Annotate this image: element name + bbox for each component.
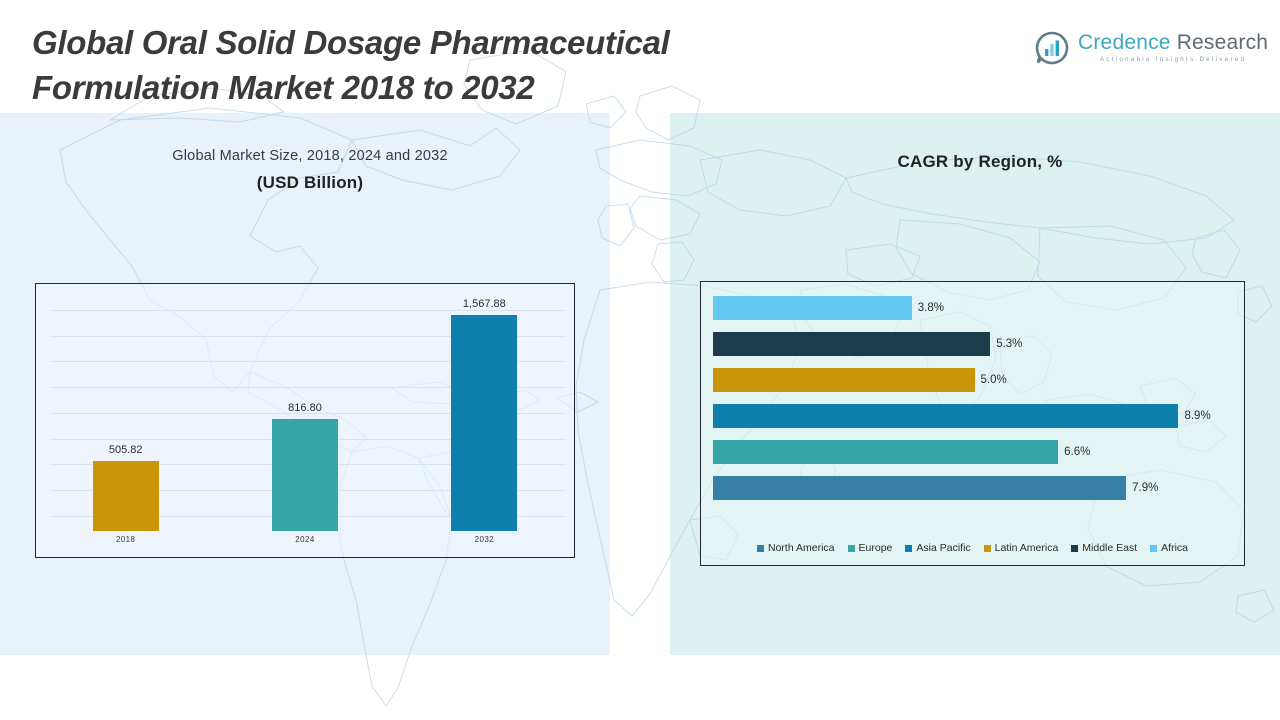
logo-name-part-2: Research (1171, 31, 1269, 54)
page-title-line-2: Formulation Market 2018 to 2032 (32, 65, 932, 110)
region-bar-row: 8.9% (713, 404, 1236, 428)
legend-label: Middle East (1082, 542, 1137, 554)
column-value-label: 816.80 (288, 402, 322, 414)
region-bar-row: 5.0% (713, 368, 1236, 392)
horizontal-bar-plot-area: 3.8%5.3%5.0%8.9%6.6%7.9% (713, 296, 1236, 511)
region-value-label: 7.9% (1132, 482, 1158, 494)
logo-name-part-1: Credence (1078, 31, 1171, 54)
chart-legend: North AmericaEuropeAsia PacificLatin Ame… (701, 542, 1244, 554)
logo-tagline: Actionable Insights Delivered (1078, 57, 1268, 63)
region-value-label: 3.8% (918, 302, 944, 314)
column-value-label: 505.82 (109, 444, 143, 456)
column-bar-group: 1,567.88 (451, 290, 517, 531)
column-bar (272, 419, 338, 531)
legend-label: Latin America (995, 542, 1059, 554)
legend-swatch (984, 545, 991, 552)
legend-swatch (1071, 545, 1078, 552)
region-bar-row: 3.8% (713, 296, 1236, 320)
region-bar (713, 368, 975, 392)
bar-chart-circle-icon (1035, 31, 1069, 65)
cagr-by-region-bar-chart: 3.8%5.3%5.0%8.9%6.6%7.9% North AmericaEu… (700, 281, 1245, 566)
logo-name: Credence Research (1078, 32, 1268, 53)
legend-item[interactable]: Africa (1150, 542, 1188, 554)
region-value-label: 5.3% (996, 338, 1022, 350)
logo-text: Credence Research Actionable Insights De… (1078, 32, 1268, 63)
market-size-column-chart: 505.82816.801,567.88 201820242032 (35, 283, 575, 558)
page-title: Global Oral Solid Dosage Pharmaceutical … (32, 20, 932, 110)
x-axis-tick-labels: 201820242032 (36, 535, 574, 553)
region-value-label: 8.9% (1184, 410, 1210, 422)
x-axis-tick-label: 2032 (475, 535, 494, 544)
header: Global Oral Solid Dosage Pharmaceutical … (0, 0, 1280, 113)
right-chart-heading: CAGR by Region, % (700, 152, 1260, 172)
legend-item[interactable]: Latin America (984, 542, 1059, 554)
legend-item[interactable]: Asia Pacific (905, 542, 970, 554)
legend-label: North America (768, 542, 835, 554)
left-chart-heading-line-2: (USD Billion) (60, 173, 560, 193)
legend-swatch (1150, 545, 1157, 552)
region-bar-row: 6.6% (713, 440, 1236, 464)
left-chart-heading-line-1: Global Market Size, 2018, 2024 and 2032 (60, 148, 560, 164)
region-bar (713, 440, 1058, 464)
left-chart-heading: Global Market Size, 2018, 2024 and 2032 … (60, 148, 560, 193)
column-value-label: 1,567.88 (463, 298, 506, 310)
legend-item[interactable]: Middle East (1071, 542, 1137, 554)
legend-item[interactable]: North America (757, 542, 835, 554)
region-bar-row: 7.9% (713, 476, 1236, 500)
region-value-label: 5.0% (981, 374, 1007, 386)
infographic-stage: Global Oral Solid Dosage Pharmaceutical … (0, 0, 1280, 720)
column-bar (93, 461, 159, 531)
legend-swatch (905, 545, 912, 552)
column-bar-group: 505.82 (93, 290, 159, 531)
legend-item[interactable]: Europe (848, 542, 893, 554)
column-bar-group: 816.80 (272, 290, 338, 531)
legend-swatch (757, 545, 764, 552)
x-axis-tick-label: 2018 (116, 535, 135, 544)
region-bar (713, 332, 990, 356)
page-title-line-1: Global Oral Solid Dosage Pharmaceutical (32, 20, 932, 65)
legend-swatch (848, 545, 855, 552)
brand-logo[interactable]: Credence Research Actionable Insights De… (1035, 24, 1260, 72)
right-chart-heading-text: CAGR by Region, % (700, 152, 1260, 172)
legend-label: Africa (1161, 542, 1188, 554)
region-bar-row: 5.3% (713, 332, 1236, 356)
region-bar (713, 296, 912, 320)
x-axis-tick-label: 2024 (295, 535, 314, 544)
region-bar (713, 404, 1178, 428)
column-plot-area: 505.82816.801,567.88 (36, 290, 574, 531)
region-bar (713, 476, 1126, 500)
column-bar (451, 315, 517, 531)
legend-label: Europe (859, 542, 893, 554)
legend-label: Asia Pacific (916, 542, 970, 554)
region-value-label: 6.6% (1064, 446, 1090, 458)
